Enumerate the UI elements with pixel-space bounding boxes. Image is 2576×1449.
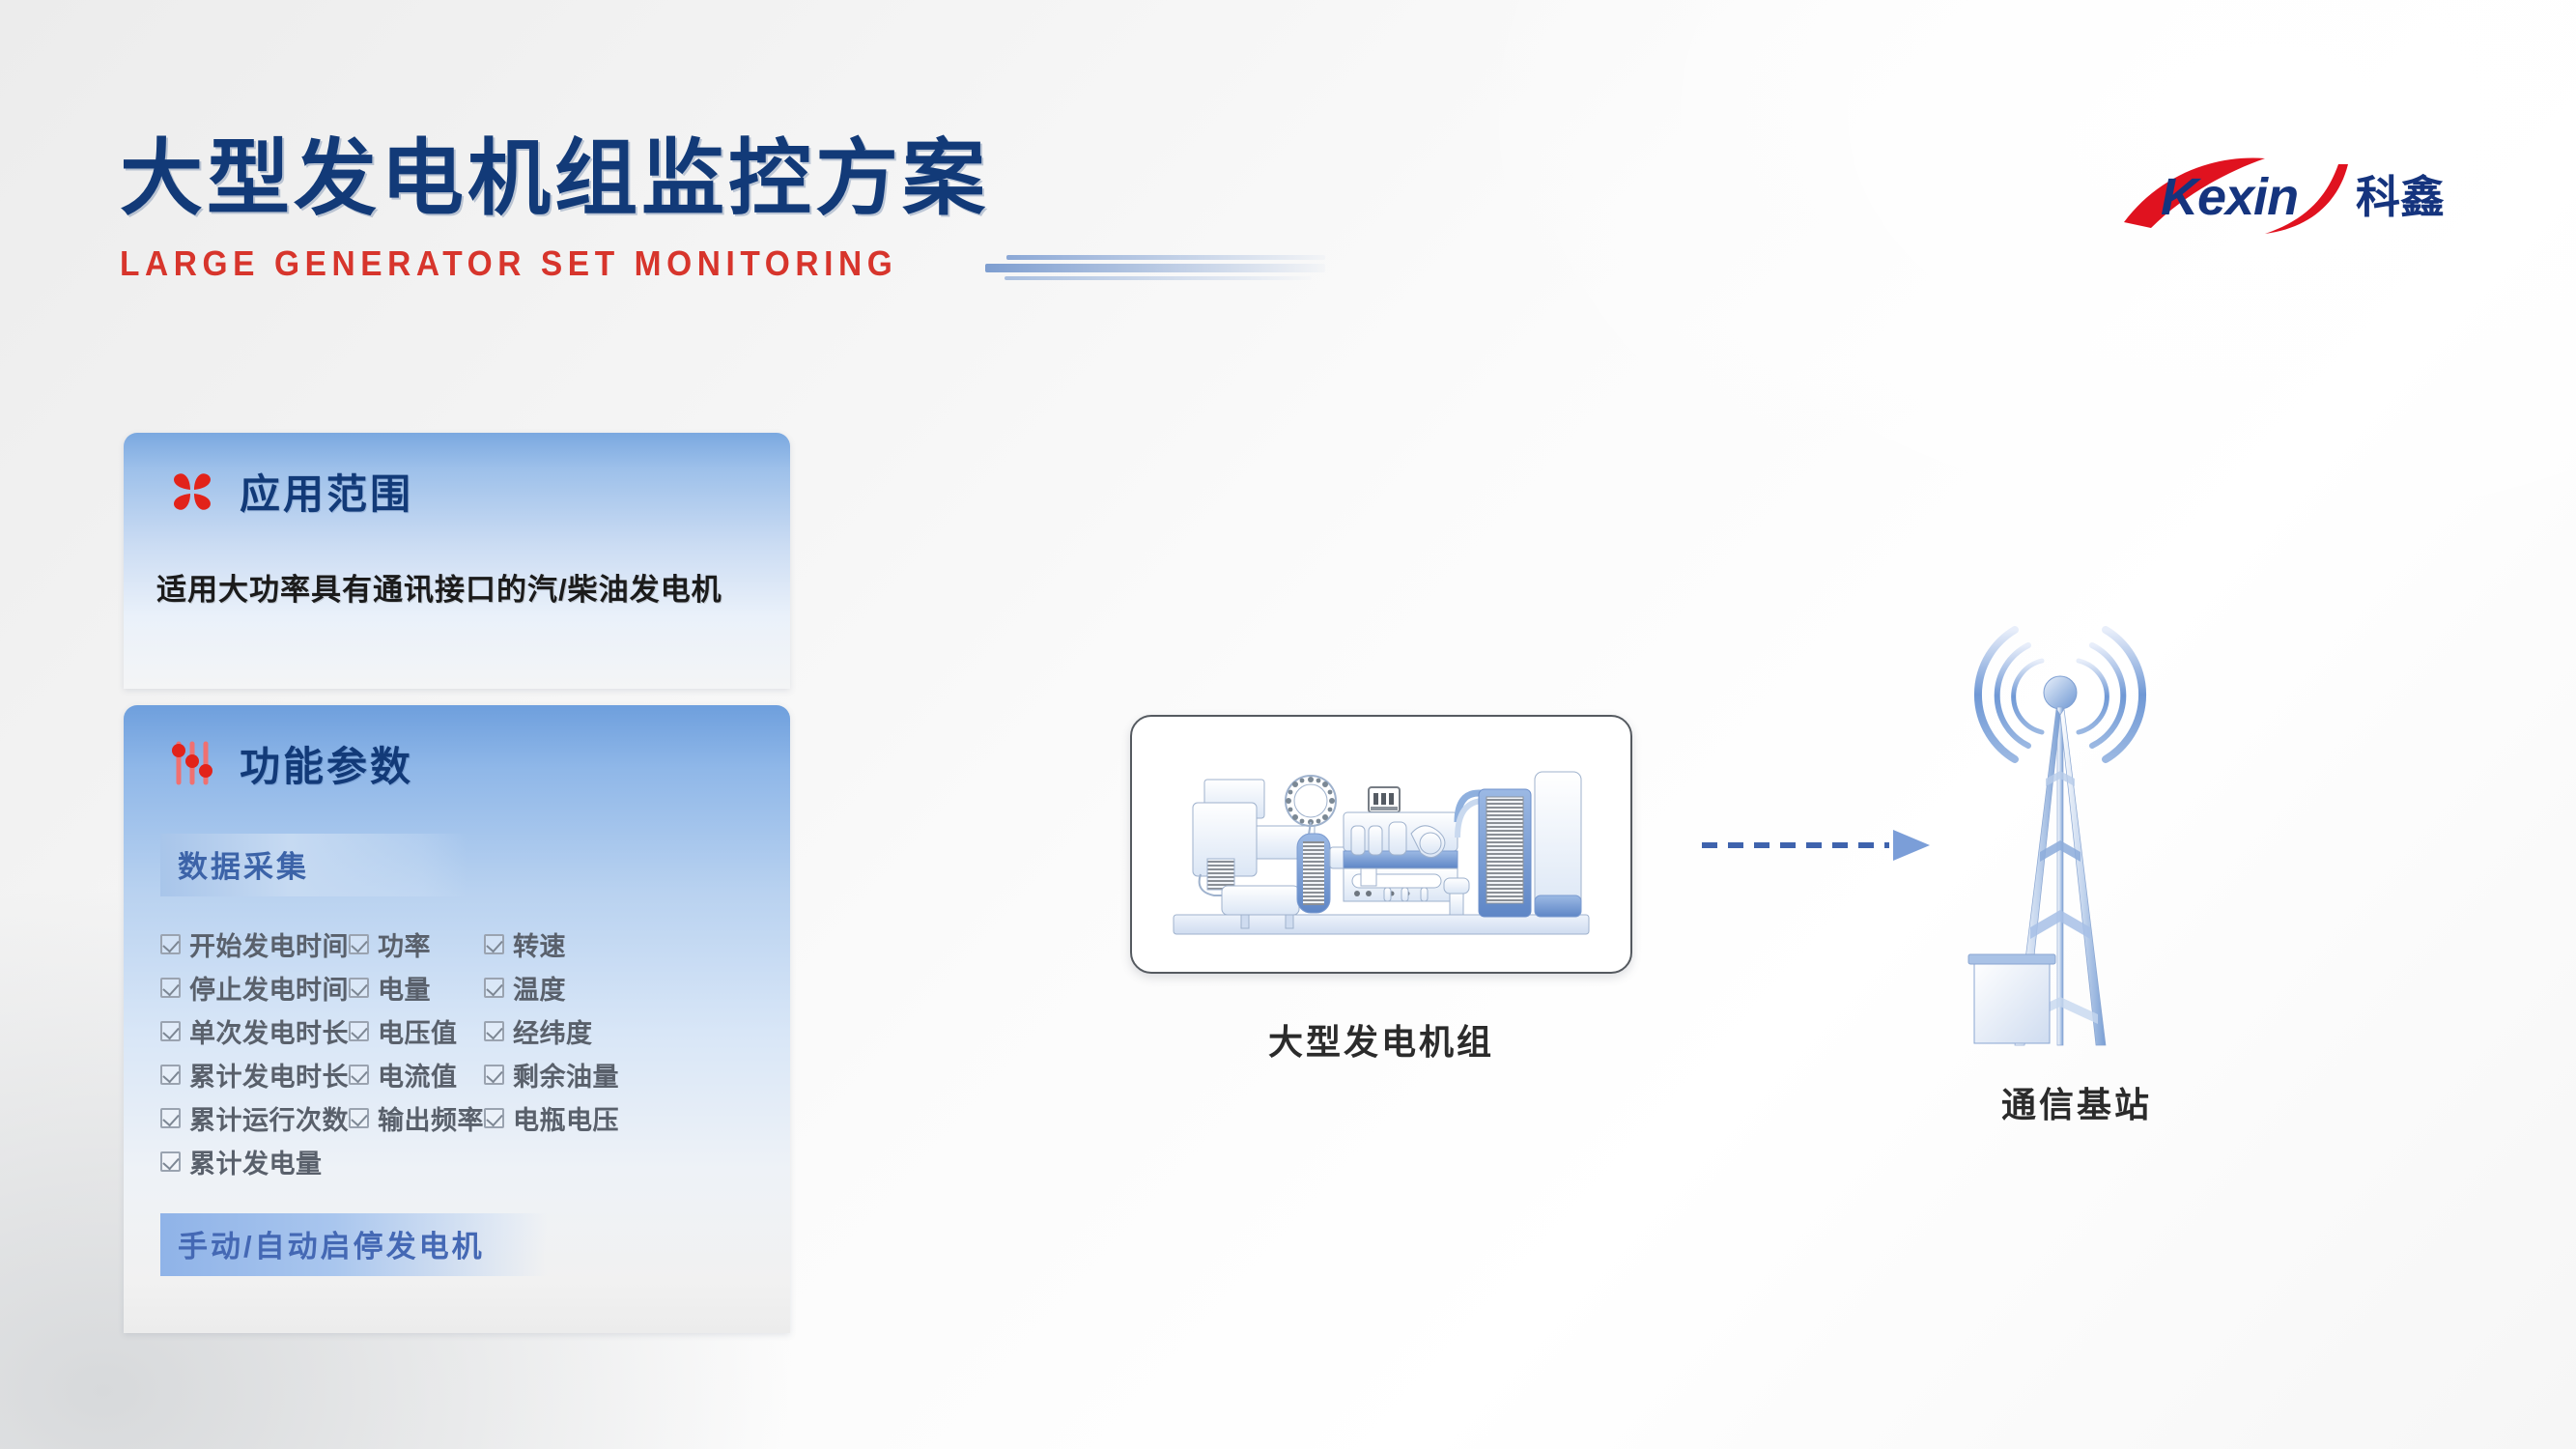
checkbox-item[interactable]: 电量	[349, 969, 484, 1007]
checkbox-item[interactable]: 经纬度	[484, 1012, 790, 1050]
checkbox-item[interactable]: 开始发电时间	[160, 925, 349, 963]
checkbox-icon[interactable]	[160, 1065, 181, 1085]
checkbox-item[interactable]: 累计运行次数	[160, 1099, 349, 1137]
checkbox-item[interactable]: 电瓶电压	[484, 1099, 790, 1137]
checkbox-label: 累计运行次数	[189, 1099, 349, 1137]
checkbox-item[interactable]: 电压值	[349, 1012, 484, 1050]
checkbox-label: 单次发电时长	[189, 1012, 349, 1050]
checkbox-icon[interactable]	[349, 1065, 369, 1085]
checkbox-item[interactable]: 剩余油量	[484, 1056, 790, 1094]
checkbox-icon[interactable]	[160, 934, 181, 954]
checkbox-label: 经纬度	[513, 1012, 593, 1050]
manual-auto-start-stop-band: 手动/自动启停发电机	[160, 1213, 547, 1276]
communication-tower-illustration	[1961, 599, 2183, 1063]
grid-spacer	[349, 1143, 484, 1180]
checkbox-item[interactable]: 功率	[349, 925, 484, 963]
checkbox-label: 电压值	[378, 1012, 458, 1050]
data-collection-band: 数据采集	[160, 834, 467, 896]
checkbox-item[interactable]: 输出频率	[349, 1099, 484, 1137]
checkbox-label: 电瓶电压	[513, 1099, 619, 1137]
subtitle-decoration-lines	[979, 247, 1327, 280]
generator-caption: 大型发电机组	[1130, 1014, 1632, 1065]
checkbox-icon[interactable]	[349, 1108, 369, 1128]
card-application-scope: 应用范围 适用大功率具有通讯接口的汽/柴油发电机	[124, 433, 790, 689]
checkbox-label: 功率	[378, 925, 431, 963]
svg-text:科鑫: 科鑫	[2356, 171, 2445, 223]
checkbox-item[interactable]: 转速	[484, 925, 790, 963]
card-functions-header: 功能参数	[124, 705, 790, 793]
generator-image-card	[1130, 715, 1632, 974]
checkbox-label: 电流值	[378, 1056, 458, 1094]
sliders-icon	[166, 738, 218, 790]
checkbox-label: 剩余油量	[513, 1056, 619, 1094]
checkbox-label: 累计发电量	[189, 1143, 323, 1180]
dashed-arrow-right-icon	[1700, 826, 1941, 865]
card-scope-header: 应用范围	[124, 433, 790, 521]
parameter-checkbox-grid: 开始发电时间 功率 转速 停止发电时间 电量 温度 单次发电时长 电压值 经纬度…	[160, 925, 790, 1180]
checkbox-icon[interactable]	[349, 934, 369, 954]
checkbox-label: 累计发电时长	[189, 1056, 349, 1094]
checkbox-icon[interactable]	[484, 1065, 504, 1085]
checkbox-icon[interactable]	[484, 978, 504, 998]
checkbox-label: 电量	[378, 969, 431, 1007]
page-subtitle: LARGE GENERATOR SET MONITORING	[120, 243, 897, 284]
checkbox-item[interactable]: 停止发电时间	[160, 969, 349, 1007]
kexin-logo-icon: Kexin 科鑫	[2120, 153, 2468, 236]
checkbox-icon[interactable]	[484, 1108, 504, 1128]
checkbox-icon[interactable]	[349, 1021, 369, 1041]
checkbox-icon[interactable]	[160, 1108, 181, 1128]
checkbox-item[interactable]: 累计发电量	[160, 1143, 349, 1180]
generator-set-illustration	[1154, 733, 1608, 955]
page-header: 大型发电机组监控方案 LARGE GENERATOR SET MONITORIN…	[120, 135, 1327, 284]
card-function-parameters: 功能参数 数据采集 开始发电时间 功率 转速 停止发电时间 电量 温度 单次发电…	[124, 705, 790, 1333]
checkbox-item[interactable]: 温度	[484, 969, 790, 1007]
grid-spacer	[484, 1143, 790, 1180]
checkbox-label: 转速	[513, 925, 566, 963]
tower-caption: 通信基站	[1922, 1077, 2231, 1127]
checkbox-icon[interactable]	[484, 934, 504, 954]
checkbox-icon[interactable]	[160, 1021, 181, 1041]
card-functions-title: 功能参数	[240, 734, 413, 793]
clover-icon	[166, 466, 218, 518]
checkbox-label: 温度	[513, 969, 566, 1007]
svg-text:Kexin: Kexin	[2161, 168, 2298, 226]
checkbox-icon[interactable]	[484, 1021, 504, 1041]
checkbox-label: 开始发电时间	[189, 925, 349, 963]
brand-logo: Kexin 科鑫	[2120, 153, 2468, 236]
checkbox-icon[interactable]	[160, 1151, 181, 1172]
card-scope-title: 应用范围	[240, 462, 413, 521]
checkbox-label: 停止发电时间	[189, 969, 349, 1007]
page-title: 大型发电机组监控方案	[120, 135, 1327, 222]
checkbox-item[interactable]: 累计发电时长	[160, 1056, 349, 1094]
checkbox-icon[interactable]	[349, 978, 369, 998]
card-scope-description: 适用大功率具有通讯接口的汽/柴油发电机	[156, 565, 790, 609]
checkbox-label: 输出频率	[378, 1099, 484, 1137]
checkbox-item[interactable]: 单次发电时长	[160, 1012, 349, 1050]
checkbox-item[interactable]: 电流值	[349, 1056, 484, 1094]
checkbox-icon[interactable]	[160, 978, 181, 998]
